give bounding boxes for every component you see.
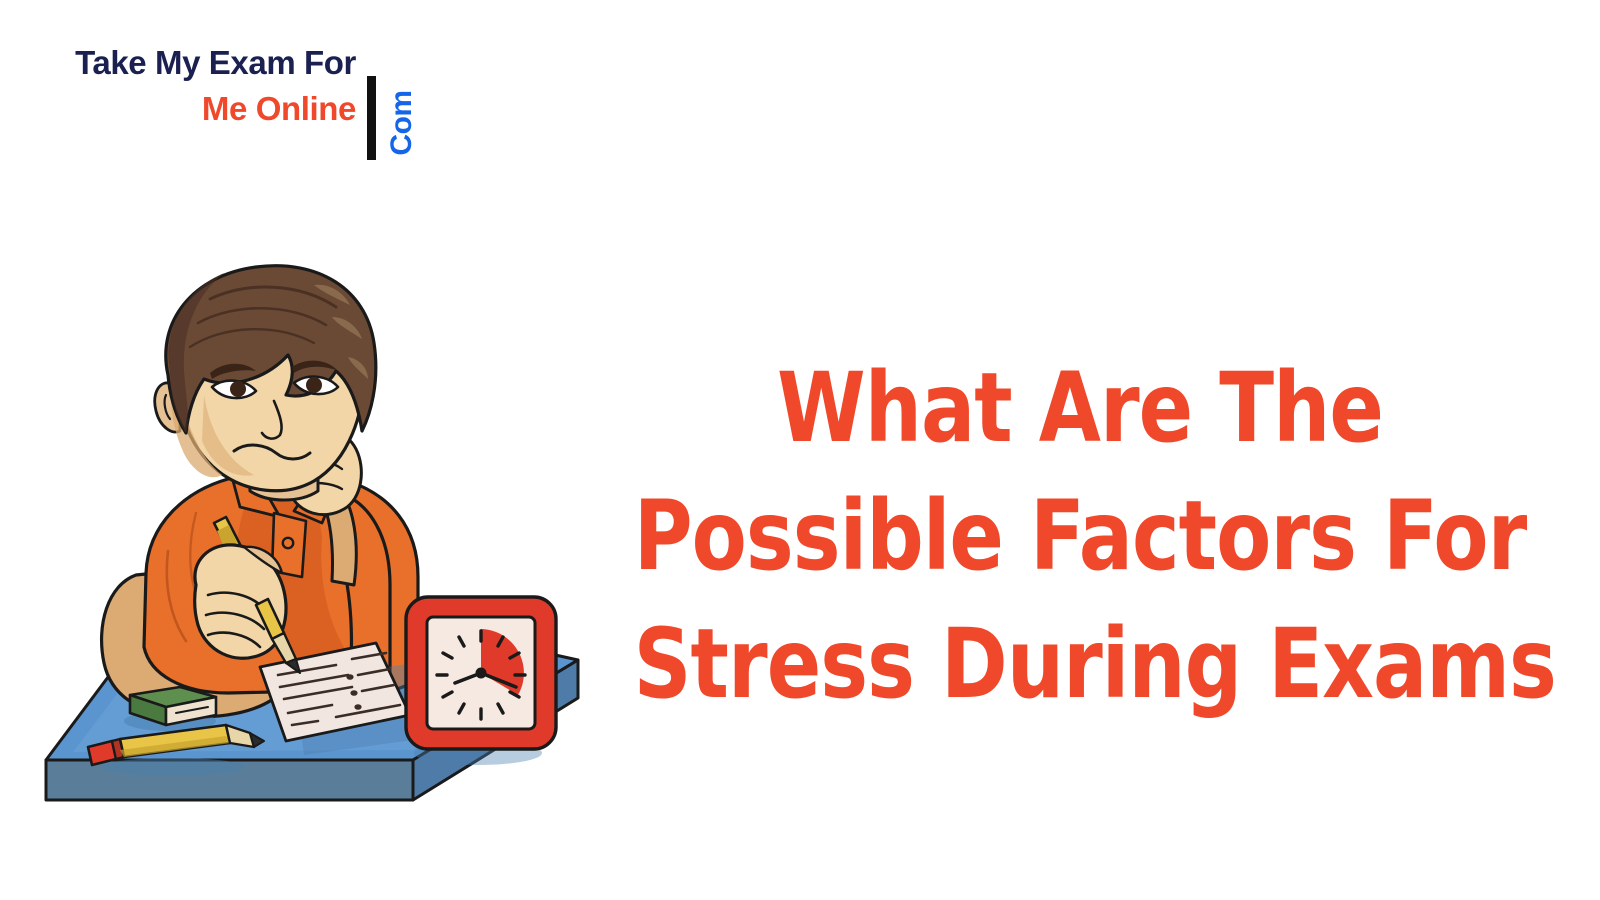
logo-com-suffix: Com (385, 81, 419, 165)
boy-pupil-left (230, 381, 246, 397)
stressed-student-illustration (18, 255, 628, 815)
logo-line-1: Take My Exam For (46, 40, 356, 86)
headline-line-1: What Are The (634, 344, 1527, 472)
banner-canvas: Take My Exam For Me Online Com (0, 0, 1600, 900)
clock-center-pin (476, 668, 487, 679)
logo-wordmark: Take My Exam For Me Online (46, 40, 356, 150)
clock (406, 597, 556, 765)
logo-divider-bar (367, 76, 376, 160)
page-title: What Are The Possible Factors For Stress… (634, 344, 1527, 728)
headline-line-3: Stress During Exams (634, 600, 1527, 728)
headline-line-2: Possible Factors For (634, 472, 1527, 600)
pencil-shadow (101, 758, 245, 776)
boy-pupil-right (306, 377, 322, 393)
logo-line-2: Me Online (46, 86, 356, 132)
site-logo[interactable]: Take My Exam For Me Online Com (46, 40, 426, 150)
illustration-svg (18, 255, 628, 815)
logo-com-wrapper: Com (376, 76, 428, 160)
eraser (124, 687, 216, 731)
